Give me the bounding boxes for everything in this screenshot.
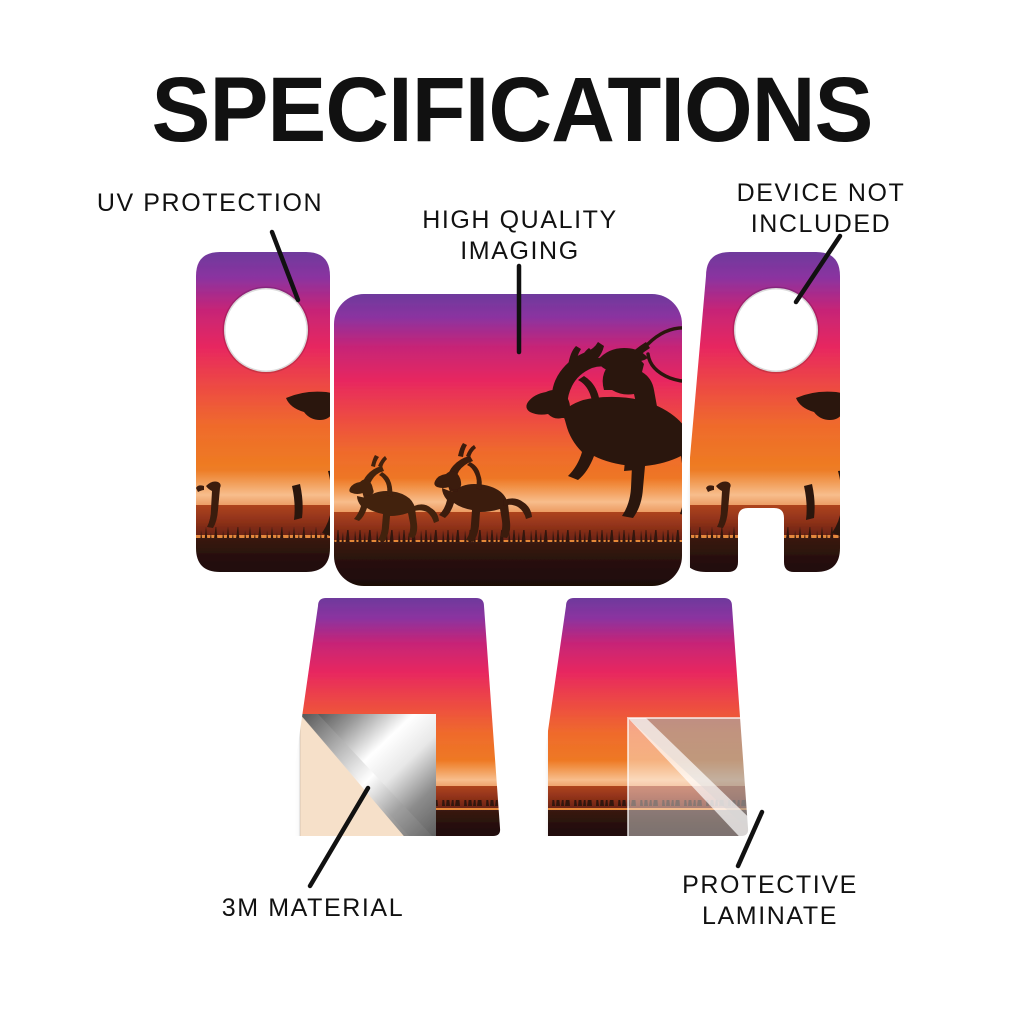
callout-label-uv-protection: UV PROTECTION <box>48 188 372 219</box>
specifications-graphic: SPECIFICATIONS <box>0 0 1024 1024</box>
3m-adhesive-peel <box>300 714 436 848</box>
callout-label-device-not-included: DEVICE NOT INCLUDED <box>676 178 966 240</box>
left-panel-skin <box>196 252 356 578</box>
right-panel-skin <box>685 252 866 582</box>
protective-laminate-peel <box>628 718 768 848</box>
center-panel-skin <box>334 294 728 588</box>
callout-label-high-quality: HIGH QUALITY IMAGING <box>370 205 670 267</box>
callout-label-3m-material: 3M MATERIAL <box>158 893 468 924</box>
callout-label-protective-laminate: PROTECTIVE LAMINATE <box>620 870 920 932</box>
